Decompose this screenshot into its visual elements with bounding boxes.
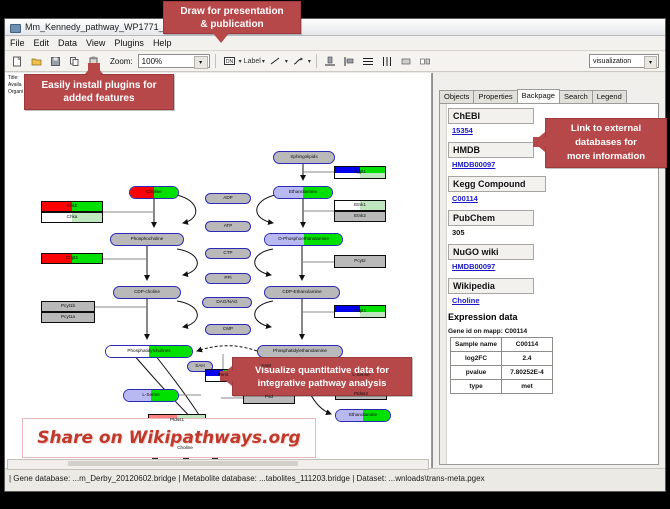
callout-easily-install-plugins: Easily install plugins for added feature… [24, 74, 174, 110]
visualization-combo[interactable]: visualization ▾ [589, 54, 659, 68]
gene-node-etnk2[interactable]: Etnk2 [334, 211, 386, 222]
callout-line-1: Link to external [571, 122, 641, 136]
metabolite-node-adp[interactable]: ADP [205, 193, 251, 204]
metabolite-node-sphingolipids[interactable]: Sphingolipids [273, 151, 335, 164]
visualization-value: visualization [593, 58, 631, 65]
db-header-kegg: Kegg Compound [448, 176, 546, 192]
metabolite-node-cmp[interactable]: CMP [205, 324, 251, 335]
table-row: Sample name C00114 [451, 338, 553, 352]
cell-value: 7.80252E-4 [502, 366, 553, 380]
node-label: Chpt1 [66, 256, 78, 261]
metabolite-node-phosphocholine[interactable]: Phosphocholine [110, 233, 184, 246]
table-row: pvalue 7.80252E-4 [451, 366, 553, 380]
node-label: CDP-Ethanolamine [282, 290, 321, 295]
menu-bar: File Edit Data View Plugins Help [5, 36, 665, 51]
db-link-kegg[interactable]: C00114 [452, 194, 656, 203]
table-row: log2FC 2.4 [451, 352, 553, 366]
node-label: L-Serine [142, 393, 159, 398]
node-label: SAH [195, 364, 204, 369]
datanode-icon[interactable]: DN [221, 53, 238, 70]
node-label: Phosphocholine [131, 237, 164, 242]
expression-data-heading: Expression data [448, 312, 656, 322]
metabolite-node-choline-top[interactable]: Choline [129, 186, 179, 199]
node-label: L-Serine [352, 373, 369, 378]
node-label: DAG/NAG [216, 300, 237, 305]
metabolite-node-cdp-ethanolamine[interactable]: CDP-Ethanolamine [264, 286, 340, 299]
ungroup-icon[interactable] [417, 53, 434, 70]
label-tool[interactable]: Label ▾ [244, 58, 265, 65]
cell-key: pvalue [451, 366, 502, 380]
gene-node-pcyt1b[interactable]: Pcyt1b [41, 301, 95, 312]
align-top-icon[interactable] [322, 53, 339, 70]
node-label: PPi [224, 276, 231, 281]
metabolite-node-ctp[interactable]: CTP [205, 248, 251, 259]
gene-id-line: Gene id on mapp: C00114 [448, 328, 656, 335]
callout-visualize-quantitative-data: Visualize quantitative data for integrat… [232, 357, 412, 396]
node-label: Pcyt2 [354, 259, 366, 264]
menu-item-plugins[interactable]: Plugins [114, 38, 144, 48]
backpage-scrollbar[interactable] [440, 104, 447, 464]
zoom-value: 100% [142, 57, 162, 66]
node-label: O-Phosphoethanolamine [278, 237, 329, 242]
metabolite-node-atp[interactable]: ATP [205, 221, 251, 232]
node-label: Psd [265, 395, 273, 400]
node-label: Ethanolamine [349, 413, 377, 418]
pathvisio-icon [9, 22, 20, 33]
gene-node-chkb[interactable]: Chkb [41, 201, 103, 212]
callout-stem [88, 63, 100, 77]
tab-objects[interactable]: Objects [439, 90, 474, 104]
screenshot-root: Mm_Kennedy_pathway_WP1771_45176.gpml Fil… [0, 0, 670, 509]
node-label: ADP [223, 196, 232, 201]
chevron-down-icon[interactable]: ▾ [194, 56, 208, 69]
node-label: SAM [261, 364, 271, 369]
node-label: Pemt [218, 373, 229, 378]
gene-node-cept1[interactable]: Cept1 [334, 305, 386, 318]
menu-item-data[interactable]: Data [58, 38, 77, 48]
gene-node-chpt1[interactable]: Chpt1 [41, 253, 103, 264]
pathway-canvas[interactable]: Title: Availa Organi [5, 73, 432, 469]
menu-item-file[interactable]: File [10, 38, 25, 48]
callout-line-1: Draw for presentation [180, 5, 283, 18]
node-label: Cept1 [354, 309, 366, 314]
db-header-wikipedia: Wikipedia [448, 278, 534, 294]
cell-value: C00114 [502, 338, 553, 352]
cell-value: met [502, 380, 553, 394]
callout-line-2: added features [63, 92, 134, 105]
line-tool[interactable]: ▾ [267, 53, 288, 70]
status-bar: | Gene database: ...m_Derby_20120602.bri… [5, 468, 665, 491]
metabolite-node-ethanolamine1[interactable]: Ethanolamine [273, 186, 333, 199]
title-bar: Mm_Kennedy_pathway_WP1771_45176.gpml [5, 19, 665, 36]
node-label: Etnk1 [354, 203, 366, 208]
cell-key: Sample name [451, 338, 502, 352]
line-icon[interactable] [267, 53, 284, 70]
menu-item-view[interactable]: View [86, 38, 105, 48]
datanode-tool[interactable]: DN ▾ [221, 53, 242, 70]
callout-line-2: integrative pathway analysis [258, 377, 387, 390]
chevron-down-icon[interactable]: ▾ [285, 58, 288, 65]
db-link-nugo[interactable]: HMDB00097 [452, 262, 656, 271]
zoom-combo[interactable]: 100% ▾ [138, 54, 210, 68]
side-panel-tabs: Objects Properties Backpage Search Legen… [439, 90, 626, 104]
callout-draw-for-publication: Draw for presentation & publication [163, 1, 301, 34]
tab-properties[interactable]: Properties [473, 90, 517, 104]
tab-legend[interactable]: Legend [592, 90, 627, 104]
metabolite-node-dagnag[interactable]: DAG/NAG [202, 297, 252, 308]
stack-columns-icon[interactable] [379, 53, 396, 70]
cell-key: type [451, 380, 502, 394]
new-file-icon[interactable] [9, 53, 26, 70]
menu-item-edit[interactable]: Edit [34, 38, 50, 48]
gene-node-chka[interactable]: Chka [41, 212, 103, 223]
db-link-wikipedia[interactable]: Choline [452, 296, 656, 305]
node-label: Choline [146, 190, 162, 195]
callout-link-external-databases: Link to external databases for more info… [545, 118, 667, 168]
gene-node-sgpl1[interactable]: Sgpl1 [334, 166, 386, 179]
node-label: CDP-choline [134, 290, 160, 295]
callout-stem [533, 137, 547, 147]
interaction-icon[interactable] [290, 53, 307, 70]
node-label: ATP [224, 224, 233, 229]
cell-key: log2FC [451, 352, 502, 366]
callout-arrow-down [212, 32, 230, 43]
chevron-down-icon[interactable]: ▾ [262, 58, 265, 65]
node-label: CTP [223, 251, 232, 256]
metabolite-node-o-phosphoethanolamine[interactable]: O-Phosphoethanolamine [264, 233, 343, 246]
node-label: Chkb [67, 204, 78, 209]
label-tool-caption: Label [244, 58, 261, 65]
svg-text:DN: DN [226, 59, 234, 65]
node-label: Choline [177, 446, 193, 451]
toolbar-separator [215, 54, 216, 68]
toolbar-separator [316, 54, 317, 68]
node-label: Phosphatidylcholines [127, 349, 170, 354]
share-banner: Share on Wikipathways.org [22, 418, 316, 458]
tab-search[interactable]: Search [559, 90, 593, 104]
callout-line-2: databases for [575, 136, 637, 150]
table-row: type met [451, 380, 553, 394]
status-text: | Gene database: ...m_Derby_20120602.bri… [9, 474, 485, 483]
chevron-down-icon[interactable]: ▾ [239, 58, 242, 65]
callout-line-3: more information [567, 150, 645, 164]
interaction-tool[interactable]: ▾ [290, 53, 311, 70]
chevron-down-icon[interactable]: ▾ [308, 58, 311, 65]
db-header-hmdb: HMDB [448, 142, 534, 158]
share-banner-text: Share on Wikipathways.org [37, 428, 300, 448]
node-label: Phosphatidylethanolamine [273, 349, 327, 354]
toolbar: Zoom: 100% ▾ DN ▾ Label ▾ ▾ [5, 51, 665, 72]
node-label: Ethanolamine [289, 190, 317, 195]
callout-line-1: Easily install plugins for [41, 79, 156, 92]
zoom-label: Zoom: [110, 57, 133, 66]
copy-icon[interactable] [66, 53, 83, 70]
save-file-icon[interactable] [47, 53, 64, 70]
metabolite-node-ppi[interactable]: PPi [205, 273, 251, 284]
metabolite-node-cdp-choline[interactable]: CDP-choline [113, 286, 181, 299]
db-value-pubchem: 305 [452, 228, 656, 237]
callout-line-2: & publication [200, 18, 263, 31]
node-label: Ptdss2 [354, 392, 368, 397]
db-header-nugo: NuGO wiki [448, 244, 534, 260]
node-label: Sgpl1 [354, 170, 366, 175]
tab-backpage[interactable]: Backpage [517, 89, 560, 104]
gene-node-etnk1[interactable]: Etnk1 [334, 200, 386, 211]
metabolite-node-l-serine-left[interactable]: L-Serine [123, 389, 179, 402]
db-header-pubchem: PubChem [448, 210, 534, 226]
node-label: Etnk2 [354, 214, 366, 219]
menu-item-help[interactable]: Help [153, 38, 172, 48]
gene-node-pcyt2[interactable]: Pcyt2 [334, 255, 386, 268]
metabolite-node-ethanolamine2[interactable]: Ethanolamine [335, 409, 391, 422]
node-label: Sphingolipids [290, 155, 317, 160]
node-label: Pcyt1a [61, 315, 75, 320]
node-label: Pcyt1b [61, 304, 75, 309]
open-file-icon[interactable] [28, 53, 45, 70]
canvas-horizontal-scrollbar[interactable] [7, 459, 429, 470]
db-header-chebi: ChEBI [448, 108, 534, 124]
node-label: CMP [223, 327, 233, 332]
expression-table: Sample name C00114 log2FC 2.4 pvalue 7.8… [450, 337, 553, 394]
metabolite-node-phosphatidylcholines[interactable]: Phosphatidylcholines [105, 345, 193, 358]
group-icon[interactable] [398, 53, 415, 70]
chevron-down-icon[interactable]: ▾ [644, 56, 657, 69]
stack-rows-icon[interactable] [360, 53, 377, 70]
gene-node-pcyt1a[interactable]: Pcyt1a [41, 312, 95, 323]
node-label: Ptdss1 [170, 418, 184, 423]
node-label: Chka [67, 215, 78, 220]
cell-value: 2.4 [502, 352, 553, 366]
align-left-icon[interactable] [341, 53, 358, 70]
